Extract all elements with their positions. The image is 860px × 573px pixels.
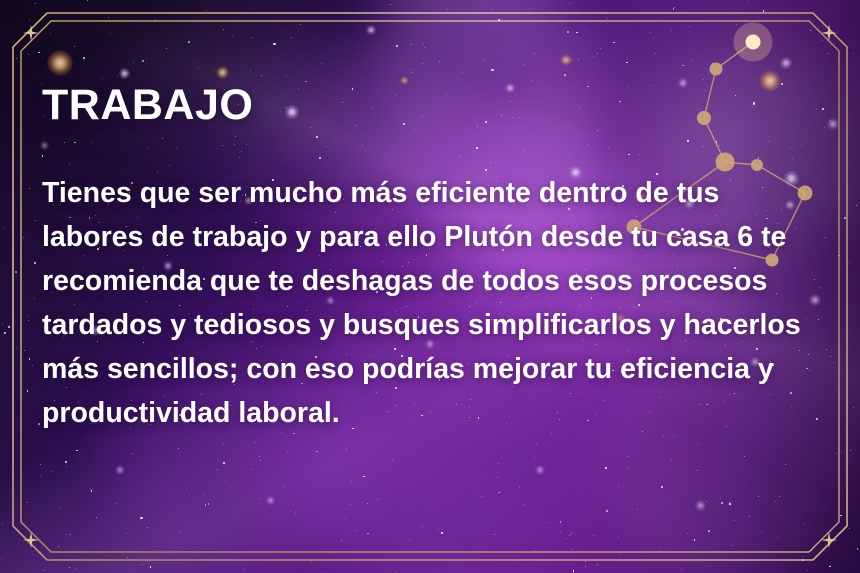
star-speck (811, 550, 812, 551)
star-speck (40, 475, 41, 476)
star-speck (682, 65, 684, 67)
star-speck (567, 31, 569, 33)
star-speck (637, 509, 638, 510)
star-speck (367, 533, 369, 535)
star-speck (305, 81, 307, 83)
star-speck (618, 537, 619, 538)
star-speck (524, 504, 525, 505)
star-speck (618, 486, 619, 487)
star-speck (703, 79, 704, 80)
star-speck (720, 498, 721, 499)
sparkle-icon (821, 25, 837, 41)
star-speck (836, 453, 837, 454)
star-speck (363, 476, 365, 478)
star-speck (350, 504, 351, 505)
star-speck (34, 298, 35, 299)
star-speck (166, 48, 167, 49)
star-speck (810, 30, 811, 31)
star-speck (155, 19, 156, 20)
star-speck (692, 60, 693, 61)
star-speck (345, 518, 346, 519)
star-speck (38, 423, 40, 425)
star-speck (729, 502, 730, 503)
star-speck (573, 570, 575, 572)
star-speck (744, 456, 745, 457)
glow-star (535, 465, 545, 475)
star-speck (300, 24, 301, 25)
star-speck (91, 490, 93, 492)
star-speck (576, 32, 578, 34)
star-speck (44, 570, 45, 571)
star-speck (392, 460, 393, 461)
star-speck (698, 444, 699, 445)
star-speck (785, 464, 786, 465)
star-speck (775, 501, 776, 502)
star-speck (217, 469, 218, 470)
star-speck (822, 40, 823, 41)
star-speck (126, 533, 127, 534)
body-paragraph: Tienes que ser mucho más eficiente dentr… (42, 127, 817, 435)
star-speck (225, 481, 226, 482)
star-speck (127, 557, 129, 559)
star-speck (34, 262, 36, 264)
star-speck (531, 80, 532, 81)
star-speck (273, 43, 275, 45)
star-speck (28, 316, 29, 317)
star-speck (857, 548, 859, 550)
star-speck (87, 0, 88, 1)
star-speck (50, 33, 51, 34)
star-speck (179, 531, 180, 532)
star-speck (214, 70, 215, 71)
star-speck (377, 499, 378, 500)
star-speck (758, 496, 759, 497)
star-speck (838, 197, 839, 198)
star-speck (761, 532, 762, 533)
star-speck (410, 69, 411, 70)
star-speck (75, 568, 76, 569)
star-speck (150, 566, 152, 568)
star-speck (712, 63, 713, 64)
star-speck (396, 45, 398, 47)
star-speck (237, 552, 238, 553)
star-speck (606, 510, 608, 512)
star-speck (571, 533, 572, 534)
star-speck (534, 53, 535, 54)
star-speck (223, 462, 225, 464)
star-speck (560, 531, 561, 532)
star-speck (291, 37, 292, 38)
star-speck (254, 442, 255, 443)
star-speck (317, 502, 318, 503)
star-speck (853, 407, 854, 408)
star-speck (833, 362, 834, 363)
star-speck (697, 470, 698, 471)
star-speck (424, 47, 425, 48)
star-speck (96, 517, 97, 518)
star-speck (325, 571, 326, 572)
star-speck (83, 60, 84, 61)
star-speck (484, 60, 485, 61)
star-speck (27, 502, 28, 503)
sparkle-icon (821, 532, 837, 548)
glow-star (47, 50, 73, 76)
star-speck (411, 44, 413, 46)
star-speck (29, 19, 30, 20)
star-speck (311, 561, 312, 562)
star-speck (491, 9, 492, 10)
star-speck (155, 21, 156, 22)
star-speck (593, 535, 594, 536)
star-speck (507, 21, 508, 22)
star-speck (295, 513, 296, 514)
star-speck (83, 57, 85, 59)
star-speck (110, 33, 111, 34)
star-speck (260, 460, 261, 461)
star-speck (204, 494, 205, 495)
star-speck (113, 13, 114, 14)
star-speck (555, 13, 556, 14)
star-speck (572, 549, 573, 550)
star-speck (560, 521, 562, 523)
star-speck (16, 58, 17, 59)
star-speck (447, 9, 448, 10)
star-speck (627, 456, 628, 457)
star-speck (178, 448, 179, 449)
star-speck (585, 561, 587, 563)
star-speck (763, 10, 765, 12)
star-speck (252, 37, 253, 38)
star-speck (355, 530, 356, 531)
star-speck (481, 496, 482, 497)
star-speck (829, 26, 830, 27)
star-speck (186, 489, 187, 490)
star-speck (208, 503, 210, 505)
star-speck (4, 332, 6, 334)
card-content: TRABAJO Tienes que ser mucho más eficien… (42, 84, 832, 435)
star-speck (367, 503, 368, 504)
star-speck (689, 26, 690, 27)
star-speck (40, 464, 41, 465)
star-speck (687, 533, 688, 534)
star-speck (283, 486, 284, 487)
star-speck (35, 3, 36, 4)
star-speck (627, 467, 628, 468)
star-speck (593, 56, 594, 57)
star-speck (250, 70, 251, 71)
star-speck (4, 227, 5, 228)
star-speck (462, 72, 463, 73)
star-speck (422, 63, 423, 64)
star-speck (2, 523, 3, 524)
star-speck (439, 61, 440, 62)
star-speck (8, 326, 10, 328)
star-speck (409, 540, 410, 541)
star-speck (578, 59, 579, 60)
star-speck (117, 76, 118, 77)
star-speck (849, 262, 850, 263)
star-speck (2, 323, 3, 324)
star-speck (663, 435, 664, 436)
star-speck (626, 62, 628, 64)
star-speck (29, 358, 31, 360)
star-speck (660, 551, 661, 552)
star-speck (74, 46, 75, 47)
star-speck (251, 469, 252, 470)
star-speck (108, 17, 109, 18)
star-speck (534, 550, 535, 551)
star-speck (839, 255, 840, 256)
star-speck (412, 72, 413, 73)
star-speck (802, 559, 804, 561)
star-speck (223, 444, 224, 445)
glow-star (780, 57, 792, 69)
star-speck (438, 529, 439, 530)
star-speck (671, 30, 672, 31)
star-speck (729, 503, 731, 505)
star-speck (321, 63, 322, 64)
star-speck (605, 467, 607, 469)
star-speck (146, 58, 147, 59)
star-speck (749, 516, 750, 517)
star-speck (498, 19, 500, 21)
star-speck (16, 347, 17, 348)
star-speck (83, 13, 84, 14)
star-speck (674, 436, 675, 437)
star-speck (260, 498, 261, 499)
star-speck (777, 537, 778, 538)
glow-star (366, 25, 376, 35)
star-speck (142, 60, 144, 62)
star-speck (188, 41, 190, 43)
star-speck (742, 51, 743, 52)
star-speck (70, 534, 71, 535)
star-speck (140, 517, 142, 519)
star-speck (674, 7, 675, 8)
star-speck (232, 35, 233, 36)
star-speck (597, 564, 599, 566)
star-speck (841, 452, 842, 453)
star-speck (69, 567, 70, 568)
star-speck (290, 511, 291, 512)
glow-star (560, 54, 572, 66)
star-speck (829, 566, 831, 568)
star-speck (569, 3, 570, 4)
star-speck (58, 546, 59, 547)
star-speck (856, 205, 857, 206)
star-speck (244, 569, 245, 570)
star-speck (734, 520, 735, 521)
star-speck (286, 75, 287, 76)
star-speck (28, 320, 29, 321)
star-speck (491, 69, 493, 71)
star-speck (351, 481, 352, 482)
star-speck (671, 460, 672, 461)
star-speck (206, 10, 207, 11)
star-speck (849, 528, 850, 529)
star-speck (733, 20, 734, 21)
star-speck (655, 53, 656, 54)
star-speck (613, 42, 615, 44)
star-speck (681, 569, 682, 570)
star-speck (524, 64, 525, 65)
star-speck (142, 564, 143, 565)
star-speck (133, 62, 134, 63)
star-speck (650, 32, 651, 33)
star-speck (566, 538, 567, 539)
star-speck (706, 501, 707, 502)
horoscope-card: TRABAJO Tienes que ser mucho más eficien… (0, 0, 860, 573)
star-speck (441, 532, 443, 534)
star-speck (66, 534, 67, 535)
star-speck (316, 451, 318, 453)
star-speck (597, 53, 598, 54)
star-speck (802, 556, 803, 557)
star-speck (853, 53, 854, 54)
star-speck (619, 554, 620, 555)
star-speck (804, 524, 805, 525)
star-speck (564, 74, 566, 76)
star-speck (15, 271, 17, 273)
constellation-node (710, 63, 723, 76)
star-speck (498, 492, 500, 494)
star-speck (27, 390, 29, 392)
star-speck (35, 220, 36, 221)
star-speck (287, 451, 288, 452)
star-speck (708, 530, 710, 532)
star-speck (673, 8, 675, 10)
star-speck (569, 535, 570, 536)
star-speck (844, 217, 846, 219)
star-speck (341, 540, 342, 541)
star-speck (600, 48, 601, 49)
star-speck (850, 450, 851, 451)
star-speck (607, 18, 608, 19)
glow-star (266, 496, 275, 505)
star-speck (807, 570, 808, 571)
star-speck (38, 52, 40, 54)
star-speck (736, 24, 737, 25)
star-speck (23, 237, 24, 238)
star-speck (546, 522, 547, 523)
star-speck (519, 487, 520, 488)
star-speck (132, 453, 133, 454)
star-speck (838, 255, 840, 257)
star-speck (694, 539, 696, 541)
star-speck (713, 66, 714, 67)
star-speck (536, 443, 537, 444)
star-speck (396, 571, 397, 572)
star-speck (422, 526, 423, 527)
star-speck (198, 68, 199, 69)
star-speck (76, 450, 78, 452)
star-speck (423, 44, 424, 45)
star-speck (779, 496, 780, 497)
star-speck (494, 534, 495, 535)
star-speck (721, 502, 723, 504)
star-speck (534, 457, 535, 458)
glow-star (216, 66, 229, 79)
star-speck (102, 78, 103, 79)
glow-star (119, 68, 130, 79)
star-speck (585, 566, 586, 567)
star-speck (205, 504, 207, 506)
star-speck (29, 188, 30, 189)
star-speck (259, 456, 260, 457)
star-speck (24, 350, 25, 351)
star-speck (116, 503, 117, 504)
star-speck (661, 486, 663, 488)
star-speck (346, 449, 347, 450)
star-speck (840, 515, 842, 517)
page-title: TRABAJO (42, 84, 832, 127)
star-speck (147, 527, 148, 528)
star-speck (497, 477, 498, 478)
star-speck (32, 365, 33, 366)
sparkle-icon (23, 532, 39, 548)
star-speck (731, 545, 732, 546)
star-speck (28, 54, 29, 55)
star-speck (51, 471, 52, 472)
glow-star (695, 500, 706, 511)
star-speck (223, 29, 224, 30)
star-speck (390, 4, 391, 5)
sparkle-icon (23, 25, 39, 41)
star-speck (65, 461, 67, 463)
star-speck (572, 59, 573, 60)
star-speck (261, 75, 262, 76)
star-speck (530, 8, 531, 9)
constellation-node (746, 35, 761, 50)
star-speck (60, 507, 61, 508)
star-speck (1, 558, 2, 559)
star-speck (90, 489, 91, 490)
star-speck (828, 53, 830, 55)
star-speck (498, 463, 499, 464)
star-speck (747, 1, 748, 2)
star-speck (66, 466, 67, 467)
glow-star (115, 465, 125, 475)
